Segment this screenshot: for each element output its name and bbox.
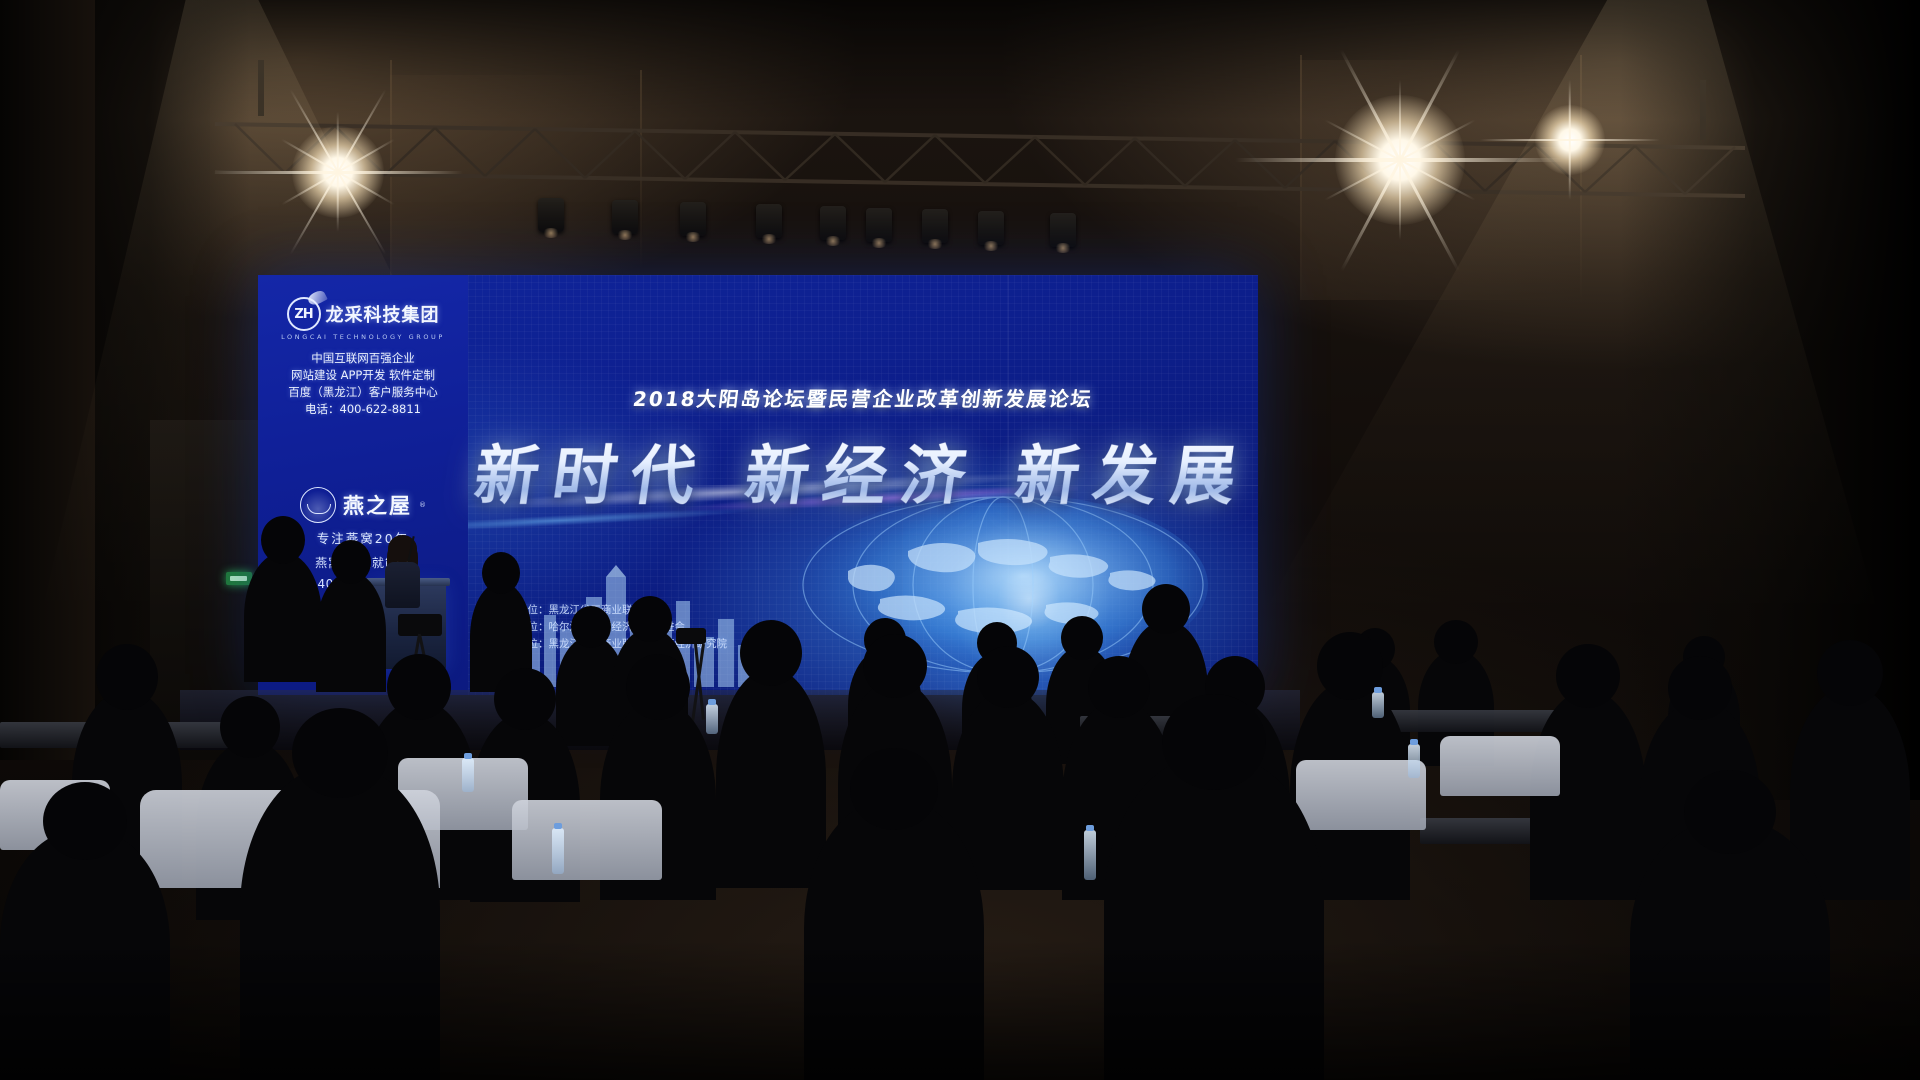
organizer-line-1: 主办单位：黑龙江省工商业联合会 (496, 602, 727, 619)
spotlight-fixture (820, 206, 846, 240)
exit-sign (226, 572, 252, 585)
conference-photo-scene: 鸿利·天下大观 WORLD PLAZA 在这里·看世界 (0, 0, 1920, 1080)
spotlight-fixture (922, 209, 948, 243)
chair (1296, 760, 1426, 830)
spotlight-fixture (1050, 213, 1076, 247)
longcai-logo: ZH 龙采科技集团 (258, 297, 468, 331)
speaker-at-podium (380, 538, 424, 608)
event-headline: 新时代 新经济 新发展 (469, 425, 1256, 517)
camera-body (676, 628, 706, 644)
audience-member (716, 668, 826, 888)
audience-member (244, 552, 322, 682)
water-bottle (1372, 692, 1384, 718)
truss-drop-right (1700, 80, 1706, 140)
yanzhiwu-name-cn: 燕之屋 (343, 490, 412, 520)
yanzhiwu-bowl-icon (300, 487, 336, 523)
sponsor-lines: 中国互联网百强企业 网站建设 APP开发 软件定制 百度（黑龙江）客户服务中心 … (258, 350, 468, 418)
spotlight-fixture (756, 204, 782, 238)
lighting-truss (215, 110, 1745, 206)
left-column (0, 0, 95, 760)
sponsor-longcai-block: ZH 龙采科技集团 LONGCAI TECHNOLOGY GROUP 中国互联网… (258, 297, 468, 418)
spotlight-fixture (612, 200, 638, 234)
longcai-mark-icon: ZH (287, 297, 321, 331)
sponsor-line-4: 电话：400-622-8811 (258, 401, 468, 418)
sponsor-line-2: 网站建设 APP开发 软件定制 (258, 367, 468, 384)
longcai-name-en: LONGCAI TECHNOLOGY GROUP (258, 333, 468, 341)
sponsor-line-1: 中国互联网百强企业 (258, 350, 468, 367)
truss-drop-left (258, 60, 264, 116)
spotlight-fixture (866, 208, 892, 242)
water-bottle (1084, 830, 1096, 880)
spotlight-fixture (978, 211, 1004, 245)
water-bottle (1408, 744, 1420, 778)
water-bottle (552, 828, 564, 874)
spotlight-fixture (538, 198, 564, 232)
chair (1440, 736, 1560, 796)
water-bottle (462, 758, 474, 792)
registered-mark-icon: ® (419, 501, 426, 509)
foreground-vignette (0, 940, 1920, 1080)
spotlight-fixture (680, 202, 706, 236)
event-subtitle: 2018大阳岛论坛暨民营企业改革创新发展论坛 (631, 383, 1094, 412)
chair (512, 800, 662, 880)
audience-member (316, 572, 386, 692)
longcai-name-cn: 龙采科技集团 (326, 301, 440, 327)
sponsor-line-3: 百度（黑龙江）客户服务中心 (258, 384, 468, 401)
water-bottle (706, 704, 718, 734)
